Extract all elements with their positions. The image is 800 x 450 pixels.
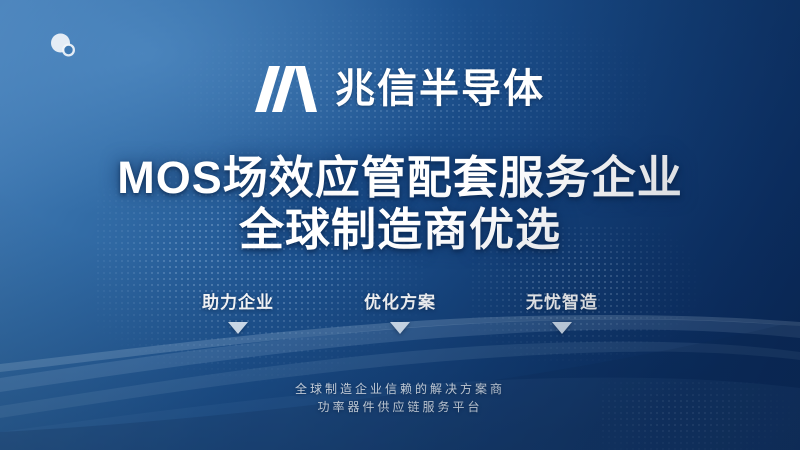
feature-list: 助力企业 优化方案 无忧智造	[0, 288, 800, 334]
triangle-down-icon	[390, 322, 410, 334]
feature-item-3: 无忧智造	[512, 288, 612, 334]
footer-line-2: 功率器件供应链服务平台	[0, 398, 800, 416]
headline-line-2: 全球制造商优选	[0, 204, 800, 256]
brand-lockup: 兆信半导体	[0, 66, 800, 112]
feature-label-2: 优化方案	[364, 288, 436, 313]
headline-line-1: MOS场效应管配套服务企业	[0, 152, 800, 204]
triangle-down-icon	[228, 322, 248, 334]
feature-item-2: 优化方案	[350, 288, 450, 334]
brand-name: 兆信半导体	[335, 69, 545, 109]
promo-poster: 兆信半导体 MOS场效应管配套服务企业 全球制造商优选 助力企业 优化方案 无忧…	[0, 0, 800, 450]
feature-item-1: 助力企业	[188, 288, 288, 334]
zhaoxin-chevron-logo-icon	[255, 66, 317, 112]
feature-label-1: 助力企业	[202, 288, 274, 313]
footer-tagline: 全球制造企业信赖的解决方案商 功率器件供应链服务平台	[0, 380, 800, 416]
page-title: MOS场效应管配套服务企业 全球制造商优选	[0, 152, 800, 256]
double-circle-watermark-icon	[46, 29, 80, 63]
feature-label-3: 无忧智造	[526, 288, 598, 313]
footer-line-1: 全球制造企业信赖的解决方案商	[0, 380, 800, 398]
triangle-down-icon	[552, 322, 572, 334]
